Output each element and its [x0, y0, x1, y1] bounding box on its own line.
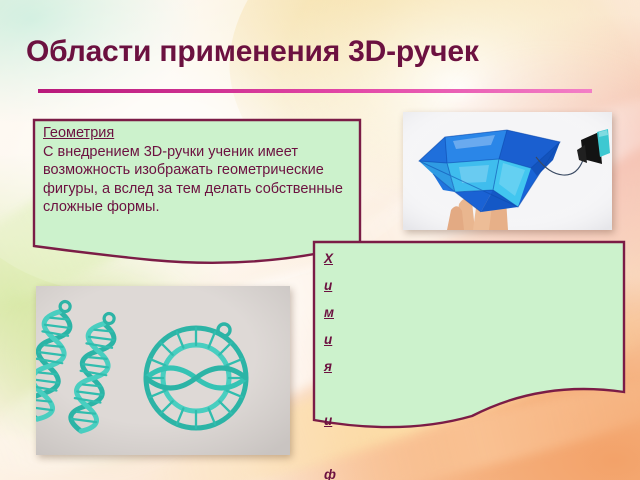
vertical-letter: м: [324, 299, 364, 326]
gem-photo-artwork: [403, 112, 612, 230]
vertical-letter: ф: [324, 461, 364, 480]
dna-photo: Три модели спирали ДНК из бирюзового пла…: [36, 286, 290, 455]
vertical-letter: и: [324, 272, 364, 299]
vertical-letter: и: [324, 407, 364, 434]
slide-title: Области применения 3D-ручек: [26, 36, 594, 68]
geometry-body: С внедрением 3D-ручки ученик имеет возмо…: [43, 144, 343, 216]
geometry-heading: Геометрия: [43, 124, 349, 143]
vertical-letter: я: [324, 353, 364, 380]
title-underline-rule: [38, 89, 592, 93]
vertical-letter: и: [324, 326, 364, 353]
vertical-letter-space: [324, 434, 364, 461]
vertical-letter-space: [324, 380, 364, 407]
geometry-textbox-text: Геометрия С внедрением 3D-ручки ученик и…: [43, 124, 349, 217]
chemistry-physics-textbox: Х и м и я и ф и з и: [312, 240, 626, 430]
dna-photo-artwork: [36, 286, 290, 455]
chemistry-physics-vertical-text: Х и м и я и ф и з и: [324, 245, 364, 480]
slide-canvas: Области применения 3D-ручек: [0, 0, 640, 480]
vertical-letter: Х: [324, 245, 364, 272]
gem-photo: Синий объёмный кристалл, созданный 3D-ру…: [403, 112, 612, 230]
